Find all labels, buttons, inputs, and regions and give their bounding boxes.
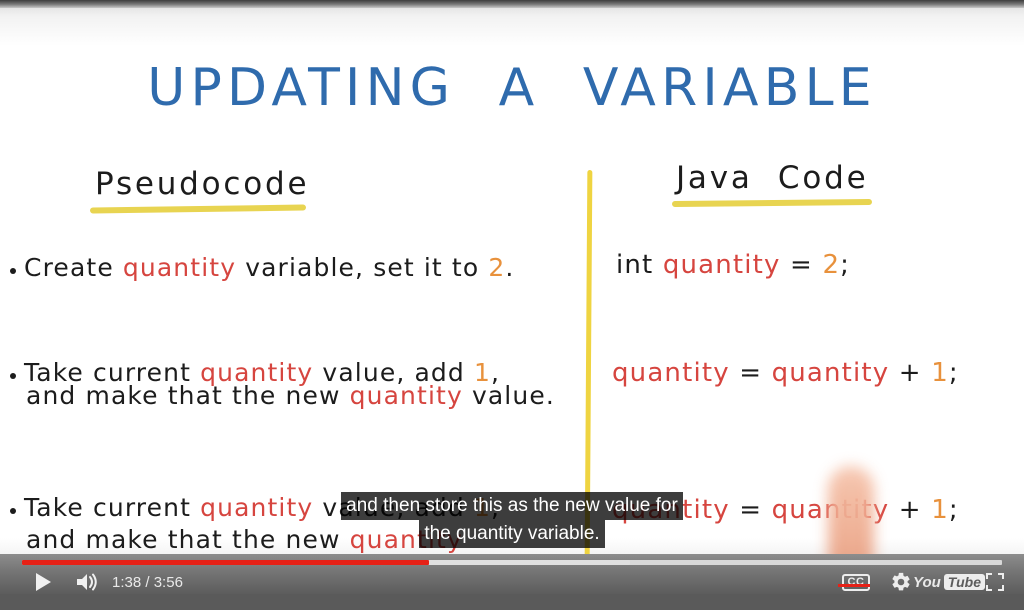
variable-name: quantity [123, 253, 236, 282]
total-duration: 3:56 [154, 574, 183, 591]
java-column-heading: Java Code [676, 160, 868, 196]
pseudocode-text: Create [24, 253, 123, 282]
numeric-literal: 1 [931, 358, 949, 388]
variable-name: quantity [663, 250, 781, 280]
page-title: UPDATING A VARIABLE [0, 58, 1024, 118]
pseudocode-heading-underline [90, 204, 306, 213]
pseudocode-text: value. [463, 381, 555, 410]
pseudocode-column-heading: Pseudocode [95, 166, 309, 202]
gear-icon [890, 571, 912, 593]
java-operator: + [889, 358, 931, 388]
cc-active-indicator [838, 584, 870, 587]
pseudocode-line: Create quantity variable, set it to 2. [24, 253, 514, 282]
caption-line-2: the quantity variable. [419, 520, 604, 548]
java-operator: = [781, 250, 823, 280]
bullet-marker [10, 268, 16, 274]
volume-icon [75, 572, 99, 592]
pseudocode-line-continued: and make that the new quantity value. [26, 381, 555, 410]
pseudocode-text: . [505, 253, 514, 282]
youtube-logo-you: You [913, 574, 941, 591]
current-time: 1:38 [112, 574, 141, 591]
java-semicolon: ; [840, 250, 850, 280]
caption-overlay: and then store this as the new value for… [0, 492, 1024, 548]
caption-row: and then store this as the new value for [0, 492, 1024, 520]
video-surface[interactable]: UPDATING A VARIABLE Pseudocode Java Code… [0, 0, 1024, 610]
caption-line-1: and then store this as the new value for [341, 492, 683, 520]
cc-icon: CC [842, 574, 871, 591]
play-icon [36, 573, 51, 591]
java-heading-underline [672, 199, 872, 207]
numeric-literal: 2 [488, 253, 505, 282]
java-semicolon: ; [949, 358, 959, 388]
caption-row: the quantity variable. [0, 520, 1024, 548]
java-code-line: quantity = quantity + 1; [612, 358, 959, 388]
java-keyword: int [616, 250, 663, 280]
pseudocode-text: variable, set it to [236, 253, 488, 282]
player-top-strip [0, 0, 1024, 8]
java-operator: = [730, 358, 772, 388]
player-bottom-bar [0, 594, 1024, 610]
variable-name: quantity [772, 358, 890, 388]
numeric-literal: 2 [822, 250, 840, 280]
java-code-line: int quantity = 2; [616, 250, 850, 280]
youtube-logo: You Tube [913, 574, 985, 591]
youtube-video-player: UPDATING A VARIABLE Pseudocode Java Code… [0, 0, 1024, 610]
fullscreen-icon [985, 572, 1005, 592]
pseudocode-text: and make that the new [26, 381, 350, 410]
variable-name: quantity [350, 381, 463, 410]
time-separator: / [141, 574, 154, 591]
bullet-marker [10, 373, 16, 379]
variable-name: quantity [612, 358, 730, 388]
